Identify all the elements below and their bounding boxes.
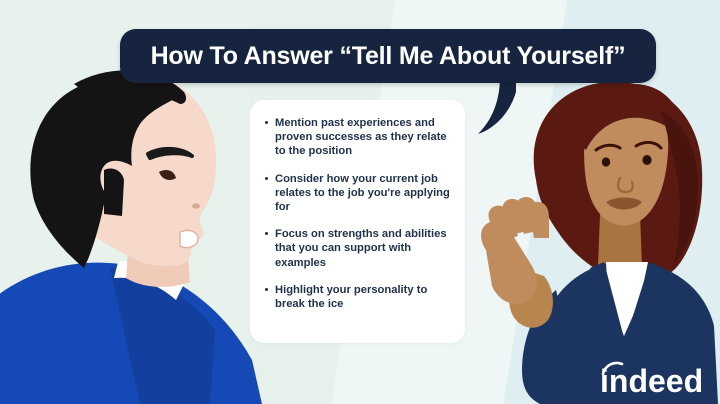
title-banner: How To Answer “Tell Me About Yourself” (120, 29, 656, 83)
woman-eye-left (602, 157, 610, 166)
page-title: How To Answer “Tell Me About Yourself” (151, 42, 626, 71)
indeed-wordmark: indeed (600, 363, 703, 398)
list-item: Mention past experiences and proven succ… (264, 116, 453, 159)
list-item: Focus on strengths and abilities that yo… (264, 227, 453, 270)
indeed-logo: indeed (600, 360, 706, 398)
woman-eye-right (642, 155, 651, 165)
list-item: Highlight your personality to break the … (264, 283, 453, 311)
infographic-canvas: Mention past experiences and proven succ… (0, 0, 720, 404)
tips-list: Mention past experiences and proven succ… (250, 100, 465, 321)
tips-card: Mention past experiences and proven succ… (250, 100, 465, 343)
speech-bubble-tail (470, 76, 530, 142)
list-item: Consider how your current job relates to… (264, 172, 453, 215)
